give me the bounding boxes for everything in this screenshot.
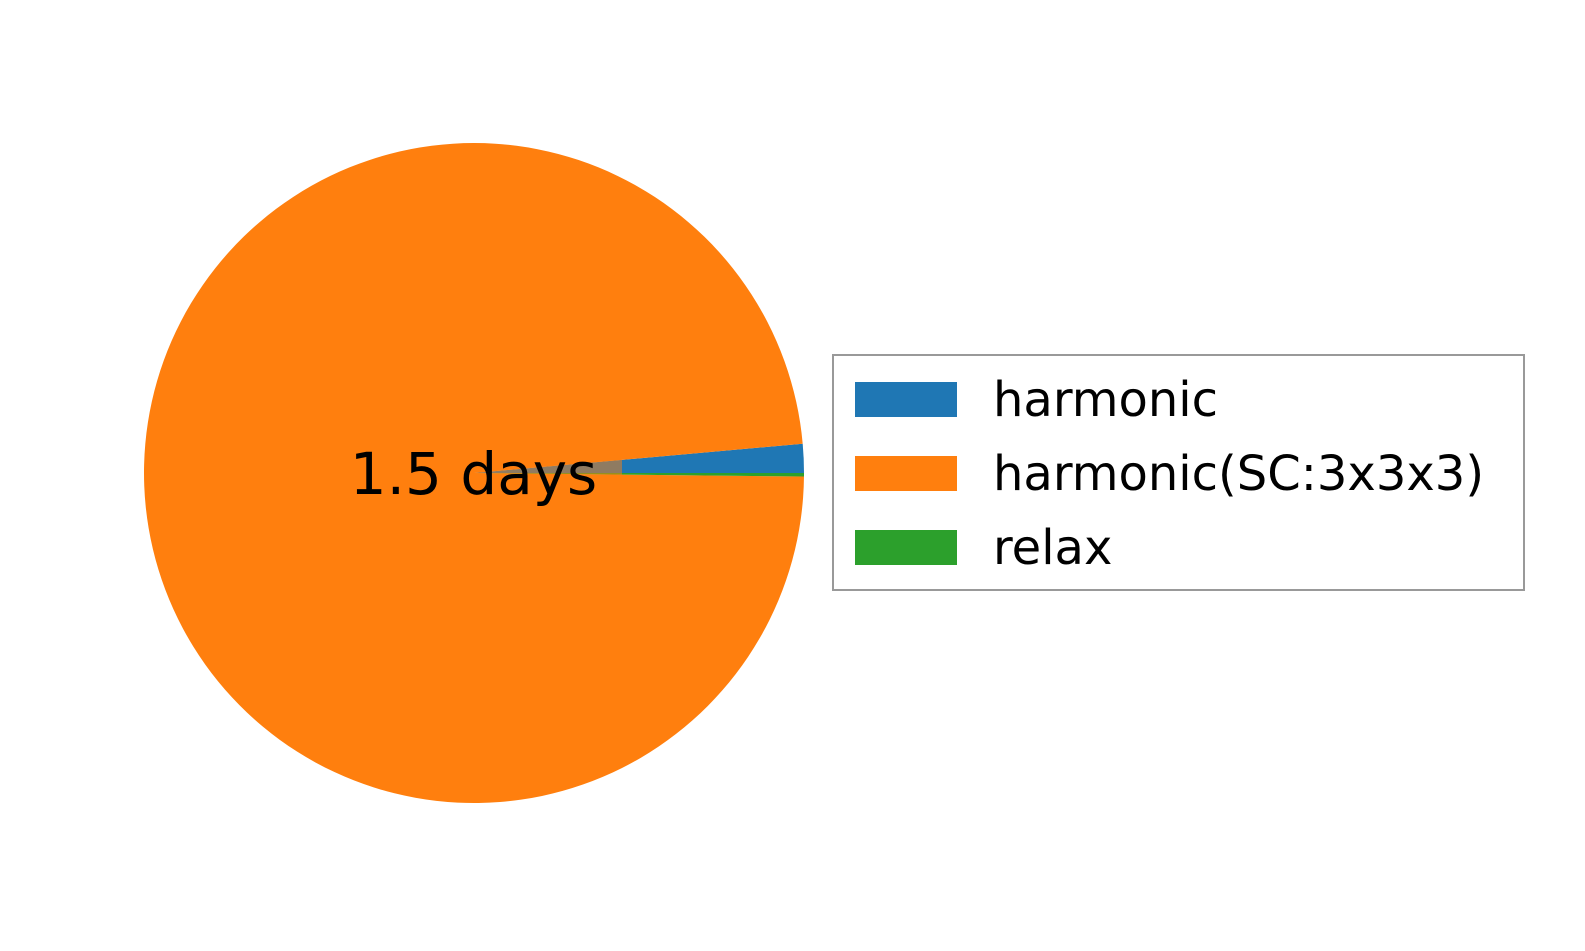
legend-label-relax: relax xyxy=(993,511,1112,585)
legend-color-swatch-relax xyxy=(855,530,957,565)
legend-label-harmonic-sc-3x3x3: harmonic(SC:3x3x3) xyxy=(993,437,1484,511)
legend: harmonic harmonic(SC:3x3x3) relax xyxy=(832,354,1525,591)
legend-item-harmonic[interactable]: harmonic xyxy=(834,363,1523,437)
wedge-value-label-harmonic: 1.5 days xyxy=(325,434,622,513)
legend-color-swatch-harmonic xyxy=(855,382,957,417)
legend-item-harmonic-sc-3x3x3[interactable]: harmonic(SC:3x3x3) xyxy=(834,437,1523,511)
legend-item-relax[interactable]: relax xyxy=(834,511,1523,585)
legend-label-harmonic: harmonic xyxy=(993,363,1218,437)
pie-chart-figure: 1.5 days harmonic harmonic(SC:3x3x3) rel… xyxy=(0,0,1585,951)
legend-color-swatch-harmonic-sc-3x3x3 xyxy=(855,456,957,491)
